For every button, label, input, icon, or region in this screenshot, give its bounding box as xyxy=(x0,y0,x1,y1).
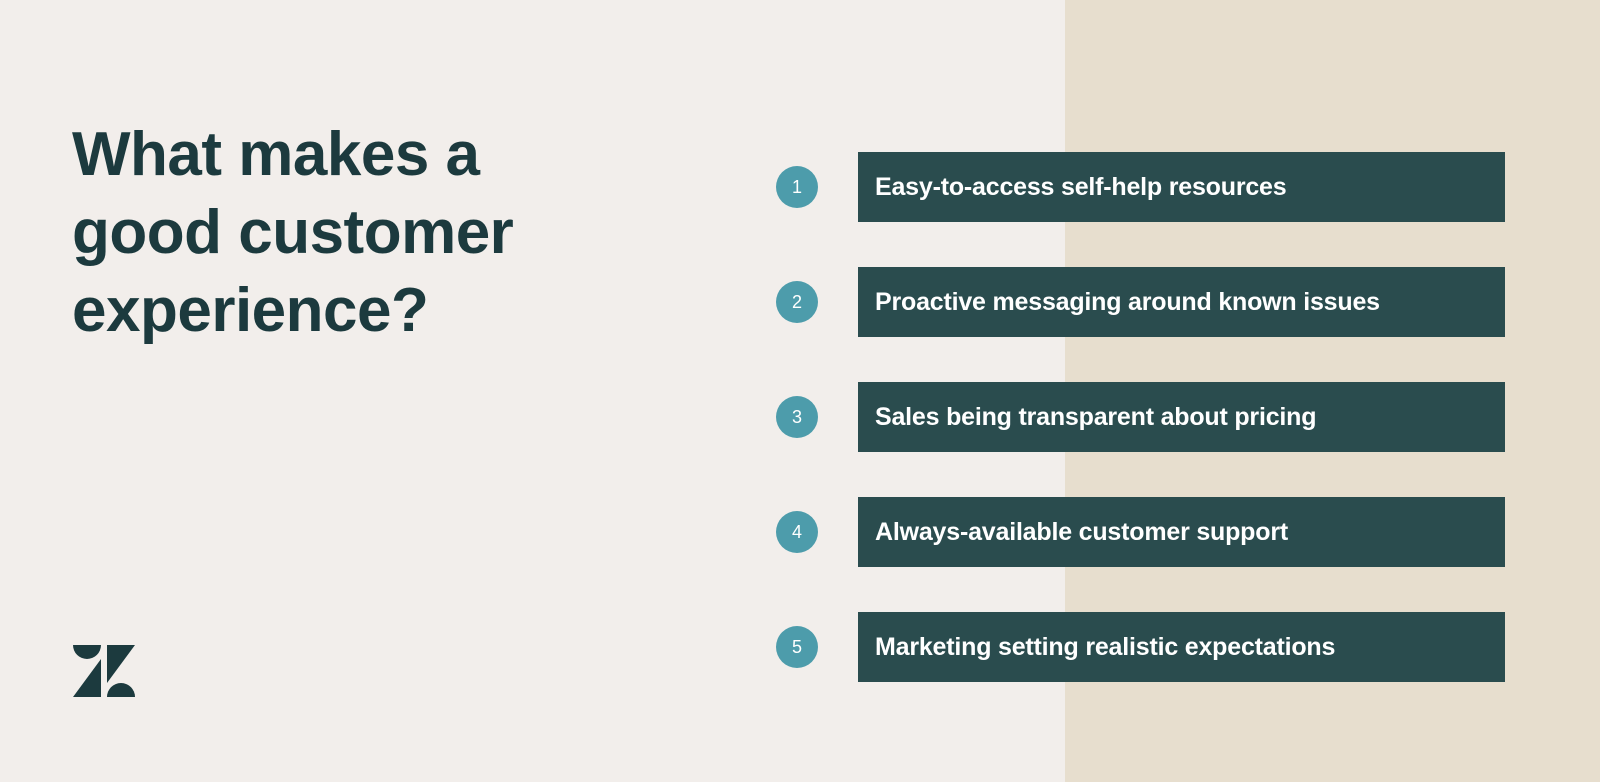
benefits-list: 1 Easy-to-access self-help resources 2 P… xyxy=(0,0,1600,782)
list-item-label: Sales being transparent about pricing xyxy=(858,403,1316,432)
list-item-bar[interactable]: Marketing setting realistic expectations xyxy=(858,612,1505,682)
list-item[interactable]: 4 Always-available customer support xyxy=(776,497,1505,567)
list-item[interactable]: 5 Marketing setting realistic expectatio… xyxy=(776,612,1505,682)
slide-canvas: What makes a good customer experience? 1… xyxy=(0,0,1600,782)
list-item-label: Marketing setting realistic expectations xyxy=(858,633,1335,662)
list-item-number-badge: 4 xyxy=(776,511,818,553)
list-item-bar[interactable]: Proactive messaging around known issues xyxy=(858,267,1505,337)
list-item-label: Proactive messaging around known issues xyxy=(858,288,1380,317)
list-item[interactable]: 3 Sales being transparent about pricing xyxy=(776,382,1505,452)
list-item-label: Always-available customer support xyxy=(858,518,1288,547)
list-item-number-badge: 2 xyxy=(776,281,818,323)
list-item-number-badge: 5 xyxy=(776,626,818,668)
list-item-label: Easy-to-access self-help resources xyxy=(858,173,1286,202)
list-item-number-badge: 3 xyxy=(776,396,818,438)
list-item-bar[interactable]: Sales being transparent about pricing xyxy=(858,382,1505,452)
list-item[interactable]: 2 Proactive messaging around known issue… xyxy=(776,267,1505,337)
list-item-number-badge: 1 xyxy=(776,166,818,208)
list-item-bar[interactable]: Easy-to-access self-help resources xyxy=(858,152,1505,222)
list-item-bar[interactable]: Always-available customer support xyxy=(858,497,1505,567)
list-item[interactable]: 1 Easy-to-access self-help resources xyxy=(776,152,1505,222)
